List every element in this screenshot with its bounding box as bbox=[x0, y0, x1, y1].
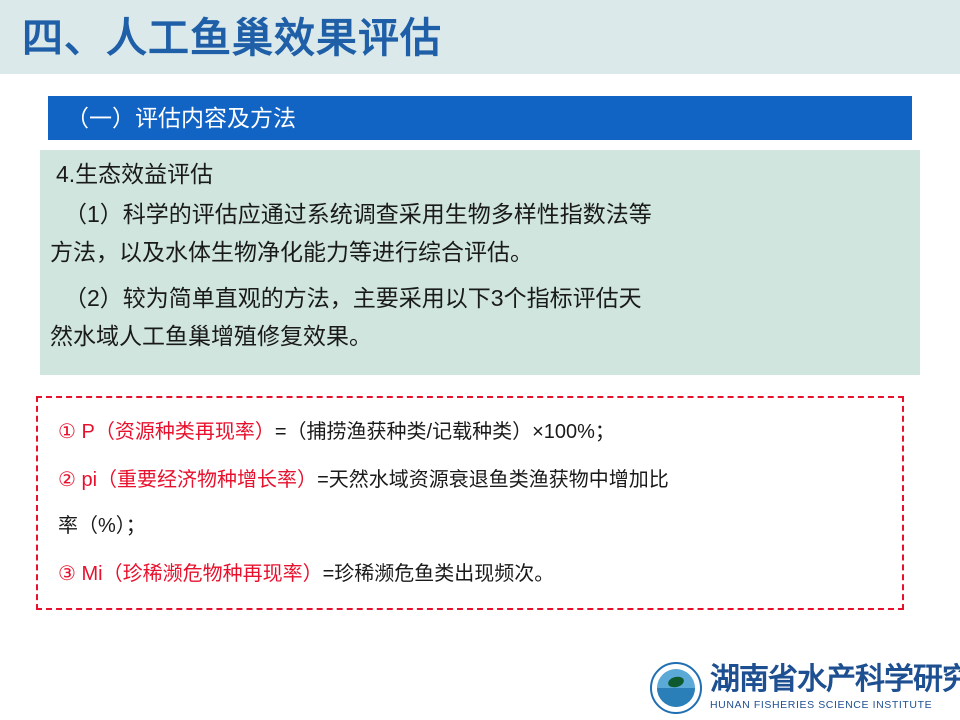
indicator-1-formula: =（捕捞渔获种类/记载种类）×100%； bbox=[275, 421, 615, 443]
content-line-3: （2）较为简单直观的方法，主要采用以下3个指标评估天 bbox=[64, 282, 642, 314]
content-line-2: 方法，以及水体生物净化能力等进行综合评估。 bbox=[50, 236, 533, 268]
institute-seal-icon bbox=[650, 662, 702, 714]
slide-root: 四、人工鱼巢效果评估 （一）评估内容及方法 4.生态效益评估 （1）科学的评估应… bbox=[0, 0, 960, 720]
page-title: 四、人工鱼巢效果评估 bbox=[22, 9, 442, 67]
indicator-3-label: ③ Mi（珍稀濒危物种再现率） bbox=[58, 563, 323, 585]
indicator-item-1: ① P（资源种类再现率）=（捕捞渔获种类/记载种类）×100%； bbox=[58, 418, 615, 446]
institute-name-en: HUNAN FISHERIES SCIENCE INSTITUTE bbox=[710, 698, 932, 712]
indicator-2-formula: =天然水域资源衰退鱼类渔获物中增加比 bbox=[317, 469, 669, 491]
seal-wave-shape bbox=[657, 688, 695, 707]
title-band: 四、人工鱼巢效果评估 bbox=[0, 0, 960, 74]
indicator-3-formula: =珍稀濒危鱼类出现频次。 bbox=[323, 563, 555, 585]
indicator-2-formula-cont: 率（%）； bbox=[58, 512, 146, 540]
indicator-item-2: ② pi（重要经济物种增长率）=天然水域资源衰退鱼类渔获物中增加比 bbox=[58, 466, 669, 494]
indicators-box: ① P（资源种类再现率）=（捕捞渔获种类/记载种类）×100%； ② pi（重要… bbox=[36, 396, 904, 610]
content-box: 4.生态效益评估 （1）科学的评估应通过系统调查采用生物多样性指数法等 方法，以… bbox=[40, 150, 920, 375]
subtitle-label: （一）评估内容及方法 bbox=[66, 103, 296, 133]
content-heading: 4.生态效益评估 bbox=[56, 158, 213, 190]
indicator-2-label: ② pi（重要经济物种增长率） bbox=[58, 469, 317, 491]
subtitle-bar: （一）评估内容及方法 bbox=[48, 96, 912, 140]
footer-logo: 湖南省水产科学研究所 HUNAN FISHERIES SCIENCE INSTI… bbox=[650, 662, 950, 716]
indicator-1-label: ① P（资源种类再现率） bbox=[58, 421, 275, 443]
institute-name-cn: 湖南省水产科学研究所 bbox=[710, 662, 960, 698]
content-line-1: （1）科学的评估应通过系统调查采用生物多样性指数法等 bbox=[64, 198, 652, 230]
indicator-item-3: ③ Mi（珍稀濒危物种再现率）=珍稀濒危鱼类出现频次。 bbox=[58, 560, 554, 588]
content-line-4: 然水域人工鱼巢增殖修复效果。 bbox=[50, 320, 372, 352]
